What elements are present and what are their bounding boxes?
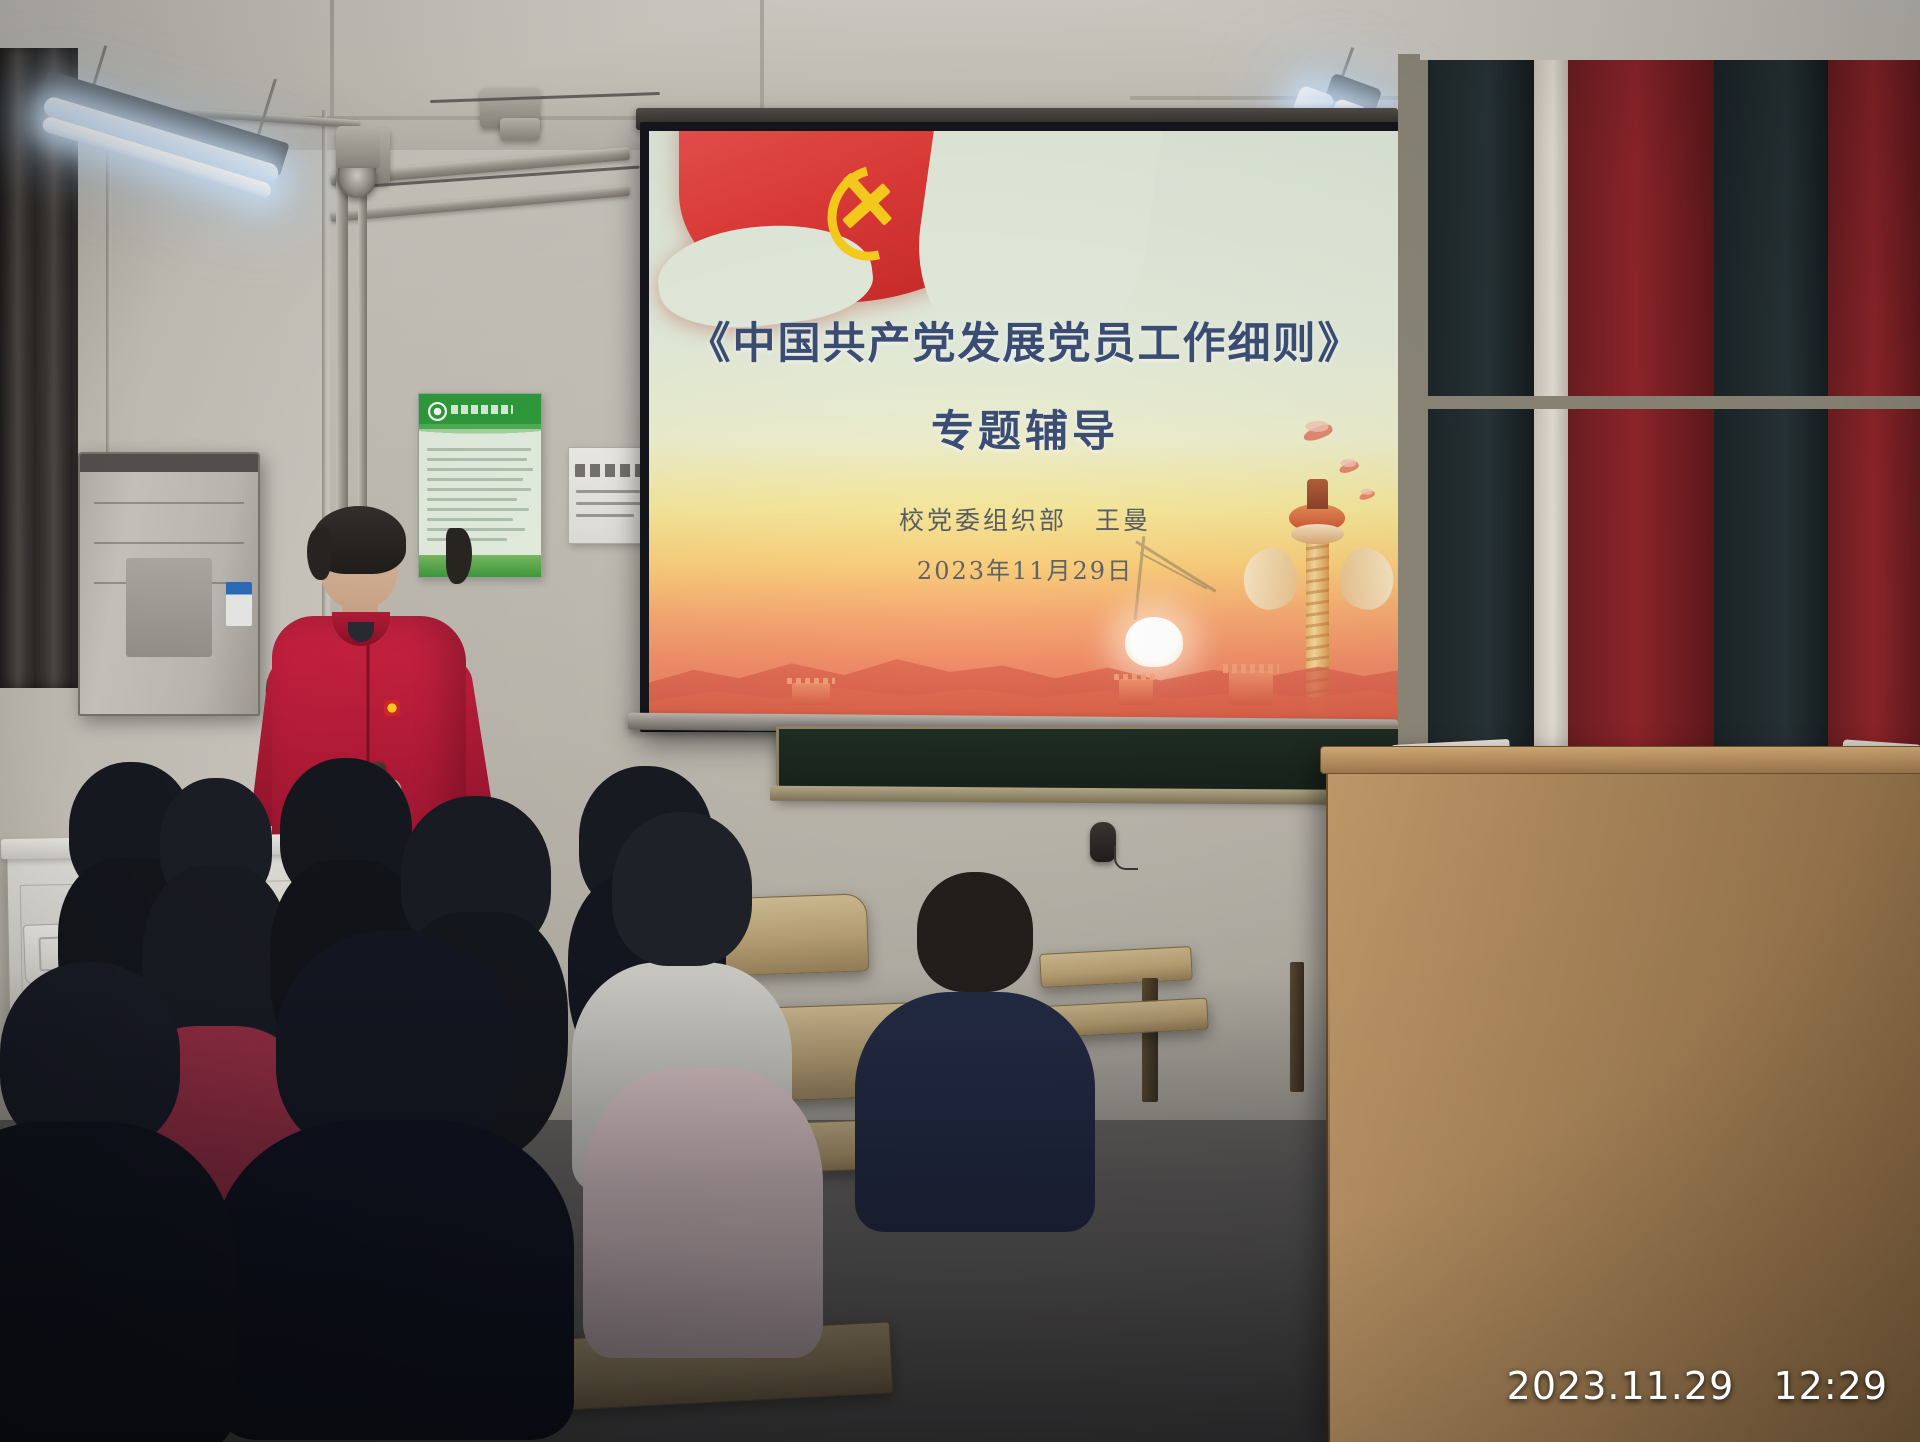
poster-body-line <box>427 448 531 451</box>
great-wall-tower <box>1229 671 1273 705</box>
poster-body-line <box>427 478 523 481</box>
desk-leg <box>1290 962 1304 1092</box>
huabiao-disc <box>1291 524 1343 544</box>
camera-mount-bracket <box>336 126 380 170</box>
window-mullion <box>1416 396 1920 409</box>
wall-speaker <box>1090 822 1116 862</box>
storage-sign-line <box>576 490 640 493</box>
student-torso <box>583 1068 823 1358</box>
ac-grill-line <box>94 502 244 504</box>
huabiao-cap <box>1307 479 1328 509</box>
wall-conduit-pipe <box>358 170 367 550</box>
window-curtain-dark <box>1416 60 1536 790</box>
camera-timestamp-watermark: 2023.11.29 12:29 <box>1507 1364 1888 1408</box>
dove-icon <box>1338 459 1360 475</box>
student-torso <box>214 1120 574 1440</box>
setting-sun <box>1125 617 1183 667</box>
projection-screen: 《中国共产党发展党员工作细则》 专题辅导 校党委组织部 王曼 2023年11月2… <box>640 122 1410 732</box>
ceiling-seam <box>760 0 764 112</box>
poster-heading-text <box>451 405 513 414</box>
slide-title: 《中国共产党发展党员工作细则》 <box>649 309 1401 371</box>
presentation-slide: 《中国共产党发展党员工作细则》 专题辅导 校党委组织部 王曼 2023年11月2… <box>649 131 1401 723</box>
desk-leg <box>1142 978 1158 1102</box>
student-torso <box>0 1122 235 1442</box>
storage-sign-line <box>576 514 634 517</box>
ac-top-panel <box>80 454 258 472</box>
great-wall-tower <box>792 683 830 705</box>
window-frame-post <box>1398 54 1420 794</box>
student-head <box>612 812 752 966</box>
slide-subtitle: 专题辅导 <box>649 397 1401 459</box>
classroom-photo: 《中国共产党发展党员工作细则》 专题辅导 校党委组织部 王曼 2023年11月2… <box>0 0 1920 1442</box>
student-silhouette <box>608 1028 798 1328</box>
hammer-and-sickle-emblem <box>829 164 899 244</box>
poster-body-line <box>427 468 533 471</box>
presenter-hair <box>312 506 406 574</box>
student-silhouette <box>880 872 1070 1192</box>
party-lapel-pin <box>383 699 401 717</box>
wall-corner-edge <box>106 150 111 480</box>
poster-wave-graphic <box>419 424 541 440</box>
ac-grill-line <box>94 542 244 544</box>
student-head <box>917 872 1033 992</box>
student-silhouette <box>0 962 250 1392</box>
window-curtain-red <box>1568 60 1718 790</box>
construction-crane-silhouette <box>1122 536 1228 628</box>
storage-sign-title <box>575 464 645 477</box>
window-curtain-dark <box>1714 60 1834 790</box>
great-wall-tower <box>1119 679 1153 705</box>
ac-sticker-label <box>226 582 252 626</box>
ac-display-panel <box>126 558 211 657</box>
storage-sign-line <box>576 502 644 505</box>
poster-body-line <box>427 458 527 461</box>
speaker-wire <box>1114 846 1138 870</box>
ceiling-seam <box>330 0 334 118</box>
air-conditioner-unit <box>78 452 260 716</box>
student-torso <box>855 992 1095 1232</box>
window-curtain-red <box>1828 60 1920 790</box>
student-silhouette <box>244 930 544 1350</box>
right-window <box>1406 60 1920 790</box>
poster-body-line <box>427 488 531 491</box>
lectern-top-lip <box>1320 746 1920 774</box>
foreground-lectern <box>1326 760 1920 1442</box>
poster-logo-icon <box>428 402 447 421</box>
junction-box <box>500 118 540 140</box>
window-curtain-white <box>1534 60 1572 790</box>
poster-body-line <box>427 498 517 501</box>
